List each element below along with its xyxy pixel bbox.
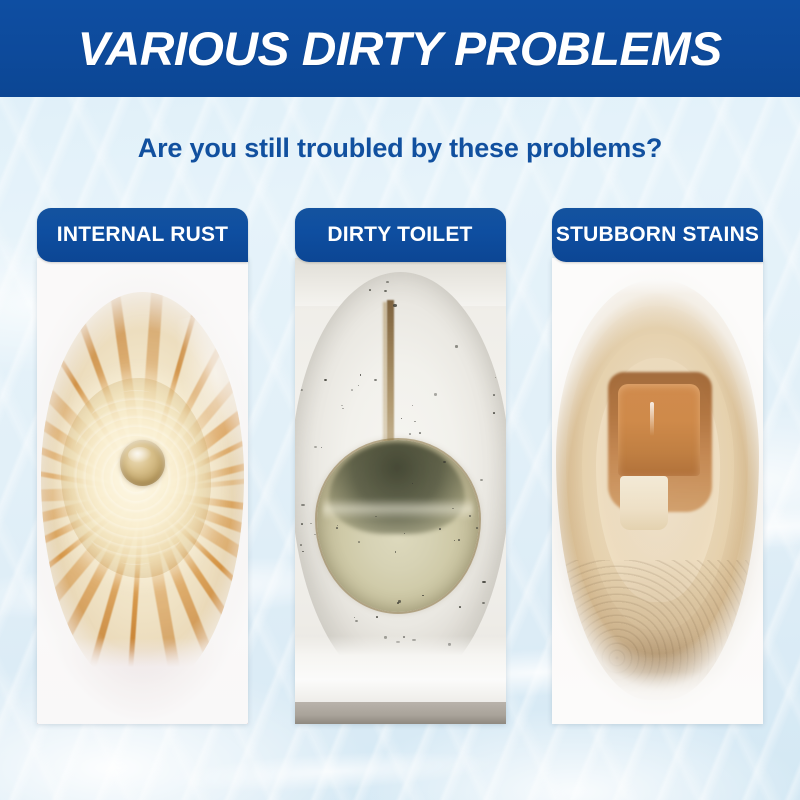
- dirt-speck: [302, 551, 304, 553]
- dirt-speck: [476, 527, 478, 529]
- page-title: VARIOUS DIRTY PROBLEMS: [78, 21, 722, 76]
- dirt-speck: [480, 479, 483, 481]
- photo1-outer-rim: [37, 258, 248, 724]
- dirt-speck: [341, 405, 342, 406]
- dirt-speck: [482, 581, 485, 583]
- dirt-speck: [369, 289, 371, 291]
- header-banner: VARIOUS DIRTY PROBLEMS: [0, 0, 800, 97]
- dirt-speck: [375, 516, 376, 517]
- photo2-bowl: [295, 272, 506, 692]
- dirt-speck: [358, 541, 361, 543]
- dirt-speck: [300, 389, 303, 392]
- photo2-specks: [295, 272, 506, 692]
- photo3-outer-rim: [552, 258, 763, 724]
- panel-tab-label: INTERNAL RUST: [57, 223, 228, 247]
- photo-stubborn-stains: [552, 258, 763, 724]
- problem-panel-internal-rust[interactable]: INTERNAL RUST: [37, 208, 248, 724]
- dirt-speck: [409, 433, 411, 435]
- panel-tab-label: DIRTY TOILET: [327, 223, 472, 247]
- problem-panel-stubborn-stains[interactable]: STUBBORN STAINS: [552, 208, 763, 724]
- dirt-speck: [314, 534, 316, 536]
- dirt-speck: [342, 408, 344, 409]
- dirt-speck: [321, 447, 322, 448]
- dirt-speck: [493, 412, 495, 414]
- panel-photo-dirty-toilet: [295, 258, 506, 724]
- dirt-speck: [458, 539, 460, 541]
- dirt-speck: [314, 619, 316, 620]
- dirt-speck: [374, 379, 377, 381]
- dirt-speck: [455, 345, 458, 347]
- dirt-speck: [412, 483, 413, 484]
- dirt-speck: [412, 405, 413, 406]
- dirt-speck: [452, 508, 454, 509]
- dirt-speck: [401, 418, 402, 419]
- dirt-speck: [327, 274, 328, 275]
- dirt-speck: [360, 374, 361, 375]
- dirt-speck: [469, 515, 471, 516]
- dirt-speck: [340, 277, 343, 279]
- dirt-speck: [354, 617, 355, 618]
- dirt-speck: [493, 394, 495, 396]
- dirt-speck: [454, 540, 455, 541]
- dirt-speck: [348, 276, 350, 278]
- dirt-speck: [414, 421, 416, 423]
- dirt-speck: [314, 446, 317, 449]
- photo2-floor: [295, 702, 506, 724]
- dirt-speck: [386, 281, 388, 283]
- dirt-speck: [336, 527, 338, 529]
- panel-tab-internal-rust[interactable]: INTERNAL RUST: [37, 208, 248, 262]
- problem-panels-row: INTERNAL RUST DIRTY TOILET: [37, 208, 763, 724]
- dirt-speck: [482, 602, 485, 604]
- dirt-speck: [393, 304, 396, 307]
- dirt-speck: [419, 432, 422, 434]
- panel-tab-stubborn-stains[interactable]: STUBBORN STAINS: [552, 208, 763, 262]
- panel-photo-internal-rust: [37, 258, 248, 724]
- dirt-speck: [319, 623, 321, 625]
- dirt-speck: [459, 606, 461, 608]
- panel-tab-dirty-toilet[interactable]: DIRTY TOILET: [295, 208, 506, 262]
- dirt-speck: [351, 389, 353, 391]
- dirt-speck: [439, 528, 441, 530]
- dirt-speck: [301, 504, 304, 507]
- panel-tab-label: STUBBORN STAINS: [556, 223, 759, 247]
- dirt-speck: [395, 551, 397, 552]
- dirt-speck: [422, 595, 424, 597]
- photo-internal-rust: [37, 258, 248, 724]
- dirt-speck: [376, 616, 378, 618]
- dirt-speck: [324, 379, 327, 381]
- dirt-speck: [495, 377, 496, 378]
- subtitle-question: Are you still troubled by these problems…: [0, 133, 800, 164]
- dirt-speck: [302, 602, 304, 604]
- dirt-speck: [337, 525, 338, 526]
- dirt-speck: [434, 393, 437, 396]
- dirt-speck: [295, 580, 296, 583]
- dirt-speck: [404, 533, 406, 534]
- dirt-speck: [310, 523, 312, 525]
- dirt-speck: [397, 602, 399, 604]
- dirt-speck: [300, 544, 302, 546]
- dirt-speck: [384, 290, 387, 292]
- dirt-speck: [301, 523, 303, 525]
- dirt-speck: [355, 620, 358, 622]
- photo-dirty-toilet: [295, 258, 506, 724]
- dirt-speck: [358, 385, 359, 386]
- panel-photo-stubborn-stains: [552, 258, 763, 724]
- problem-panel-dirty-toilet[interactable]: DIRTY TOILET: [295, 208, 506, 724]
- dirt-speck: [443, 461, 446, 463]
